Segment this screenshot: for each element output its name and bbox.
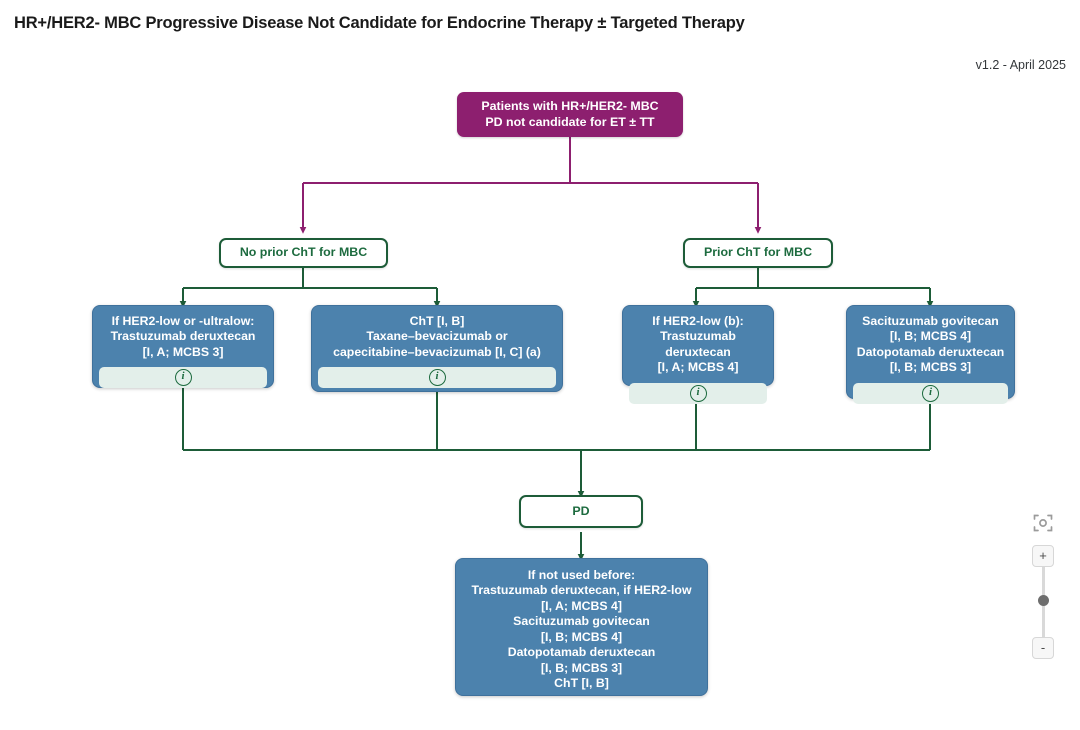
info-bar-treatment-2[interactable]: i bbox=[318, 367, 556, 388]
node-no-prior-cht[interactable]: No prior ChT for MBC bbox=[219, 238, 388, 268]
flowchart-canvas: Patients with HR+/HER2- MBC PD not candi… bbox=[0, 0, 1080, 730]
zoom-out-button[interactable]: - bbox=[1032, 637, 1054, 659]
zoom-control[interactable]: + - bbox=[1030, 512, 1056, 659]
info-bar-treatment-3[interactable]: i bbox=[629, 383, 767, 404]
node-treatment-4-text: Sacituzumab govitecan [I, B; MCBS 4] Dat… bbox=[847, 306, 1014, 383]
node-final-text: If not used before: Trastuzumab deruxtec… bbox=[456, 559, 707, 701]
node-no-prior-cht-text: No prior ChT for MBC bbox=[233, 245, 374, 261]
info-icon[interactable]: i bbox=[175, 369, 192, 386]
node-treatment-cht-bevacizumab[interactable]: ChT [I, B] Taxane–bevacizumab or capecit… bbox=[311, 305, 563, 392]
zoom-in-button[interactable]: + bbox=[1032, 545, 1054, 567]
node-treatment-sacituzumab-datopotamab[interactable]: Sacituzumab govitecan [I, B; MCBS 4] Dat… bbox=[846, 305, 1015, 399]
info-bar-treatment-4[interactable]: i bbox=[853, 383, 1008, 404]
node-pd[interactable]: PD bbox=[519, 495, 643, 528]
node-treatment-2-text: ChT [I, B] Taxane–bevacizumab or capecit… bbox=[312, 306, 562, 367]
zoom-slider-track[interactable] bbox=[1042, 565, 1045, 639]
connector-treatments-to-pd bbox=[183, 386, 930, 494]
connector-right-branch-to-treatments bbox=[696, 268, 930, 304]
node-treatment-1-text: If HER2-low or -ultralow: Trastuzumab de… bbox=[93, 306, 273, 367]
info-bar-treatment-1[interactable]: i bbox=[99, 367, 267, 388]
focus-frame-icon[interactable] bbox=[1032, 512, 1054, 534]
node-treatment-3-text: If HER2-low (b): Trastuzumab deruxtecan … bbox=[623, 306, 773, 383]
connector-root-to-branches bbox=[303, 137, 758, 230]
info-icon[interactable]: i bbox=[922, 385, 939, 402]
node-treatment-her2-low-b[interactable]: If HER2-low (b): Trastuzumab deruxtecan … bbox=[622, 305, 774, 386]
node-final-if-not-used-before[interactable]: If not used before: Trastuzumab deruxtec… bbox=[455, 558, 708, 696]
node-pd-text: PD bbox=[533, 504, 629, 520]
zoom-slider-handle[interactable] bbox=[1038, 595, 1049, 606]
connector-left-branch-to-treatments bbox=[183, 268, 437, 304]
node-root-patients[interactable]: Patients with HR+/HER2- MBC PD not candi… bbox=[457, 92, 683, 137]
node-prior-cht[interactable]: Prior ChT for MBC bbox=[683, 238, 833, 268]
info-icon[interactable]: i bbox=[429, 369, 446, 386]
node-prior-cht-text: Prior ChT for MBC bbox=[697, 245, 819, 261]
node-root-text: Patients with HR+/HER2- MBC PD not candi… bbox=[469, 99, 671, 130]
node-treatment-her2-low-ultralow[interactable]: If HER2-low or -ultralow: Trastuzumab de… bbox=[92, 305, 274, 388]
info-icon[interactable]: i bbox=[690, 385, 707, 402]
